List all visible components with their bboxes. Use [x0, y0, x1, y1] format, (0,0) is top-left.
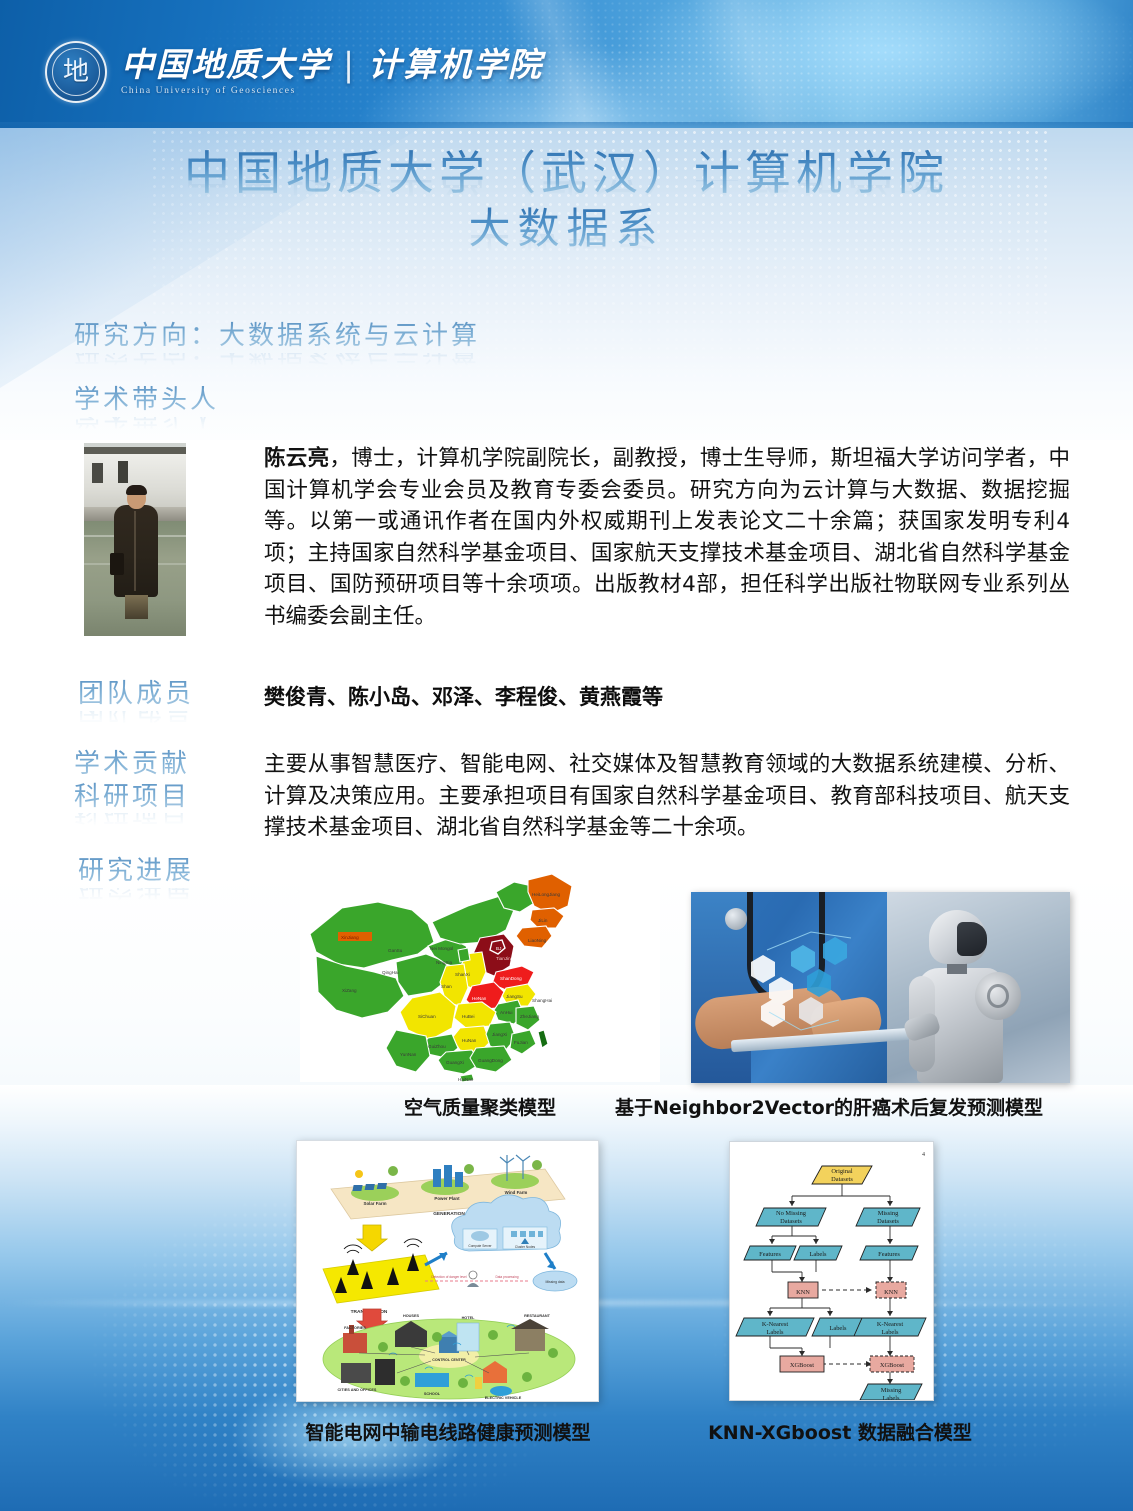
svg-text:SiChuan: SiChuan [418, 1014, 436, 1019]
heading-academic-contribution: 学术贡献 科研项目 科研项目 [74, 748, 190, 827]
svg-text:XGBoost: XGBoost [790, 1362, 814, 1369]
robot-face [957, 922, 987, 956]
svg-text:Labels: Labels [809, 1251, 827, 1258]
svg-text:ShanDong: ShanDong [500, 976, 522, 981]
heading-academic-leader: 学术带头人 学术带头人 [74, 384, 219, 431]
logo-department-name: 计算机学院 [368, 48, 543, 83]
svg-text:Missing: Missing [878, 1210, 899, 1217]
svg-text:HaiNan: HaiNan [458, 1077, 474, 1082]
svg-text:JiLin: JiLin [538, 918, 548, 923]
heading-academic-contribution-line1: 学术贡献 [74, 748, 190, 781]
danger-detection-label: Detection of danger level [431, 1275, 467, 1279]
svg-text:Features: Features [759, 1251, 781, 1258]
heading-academic-leader-label: 学术带头人 [74, 384, 219, 417]
cities-offices-icon [341, 1363, 371, 1383]
svg-text:LiaoNing: LiaoNing [528, 938, 547, 943]
heading-research-progress-reflection: 研究进展 [78, 888, 194, 902]
heading-academic-contribution-reflection: 科研项目 [74, 813, 190, 827]
svg-text:Labels: Labels [882, 1395, 900, 1401]
logo-wordmark: 中国地质大学 | 计算机学院 [121, 48, 543, 83]
page-title-line1-reflection: 中国地质大学（武汉）计算机学院 [0, 180, 1133, 200]
china-map-svg: XinJiang XiZang QingHai GanSu Nei Mongol… [300, 872, 660, 1082]
svg-text:Power Plant: Power Plant [434, 1196, 460, 1201]
heading-academic-leader-reflection: 学术带头人 [74, 417, 219, 431]
smart-grid-model-figure: Solar Farm Power Plant Wind Farm GENERAT… [296, 1140, 599, 1402]
svg-text:TianJin: TianJin [496, 956, 511, 961]
heading-research-direction: 研究方向：大数据系统与云计算 研究方向：大数据系统与云计算 [74, 320, 480, 367]
portrait-hair [126, 485, 147, 495]
portrait-legs [125, 595, 148, 619]
team-members-text: 樊俊青、陈小岛、邓泽、李程俊、黄燕霞等 [264, 682, 1070, 712]
portrait-person [114, 487, 158, 619]
svg-text:Solar Farm: Solar Farm [364, 1201, 387, 1206]
heading-research-direction-label: 研究方向：大数据系统与云计算 [74, 320, 480, 353]
svg-text:ZheJiang: ZheJiang [520, 1014, 539, 1019]
svg-text:No Missing: No Missing [776, 1210, 807, 1217]
svg-text:Original: Original [831, 1168, 853, 1175]
svg-text:HeNan: HeNan [472, 996, 487, 1001]
university-seal-icon: 地 [45, 41, 107, 103]
svg-text:Labels: Labels [881, 1329, 899, 1336]
svg-text:XinJiang: XinJiang [341, 935, 359, 940]
medical-hud-hexagons [691, 892, 887, 1083]
svg-text:HuBei: HuBei [462, 1014, 475, 1019]
svg-text:Datasets: Datasets [780, 1218, 802, 1225]
heading-research-progress-label: 研究进展 [78, 855, 194, 888]
svg-text:QingHai: QingHai [382, 970, 399, 975]
knn-xgboost-flowchart-svg: 4 [730, 1142, 934, 1401]
svg-text:CITIES AND OFFICES: CITIES AND OFFICES [338, 1388, 377, 1392]
university-logo: 地 中国地质大学 | 计算机学院 China University of Geo… [45, 38, 543, 106]
portrait-bag [110, 553, 124, 575]
logo-english-name: China University of Geosciences [121, 86, 543, 96]
svg-text:Datasets: Datasets [831, 1176, 853, 1183]
svg-text:KNN: KNN [796, 1289, 810, 1296]
svg-text:K-Nearest: K-Nearest [762, 1321, 788, 1328]
svg-text:JiangSu: JiangSu [506, 994, 523, 999]
academic-contribution-text: 主要从事智慧医疗、智能电网、社交媒体及智慧教育领域的大数据系统建模、分析、计算及… [264, 749, 1070, 844]
svg-text:Datasets: Datasets [877, 1218, 899, 1225]
missing-data-label: Missing data [545, 1280, 564, 1284]
robot-arm [909, 976, 935, 1072]
map-region-ningxia [458, 948, 470, 962]
factory-icon [343, 1333, 367, 1353]
page-title: 中国地质大学（武汉）计算机学院 中国地质大学（武汉）计算机学院 大数据系 大数据… [0, 146, 1133, 254]
compute-server-icon [471, 1231, 489, 1241]
academic-leader-bio-text: ，博士，计算机学院副院长，副教授，博士生导师，斯坦福大学访问学者，中国计算机学会… [264, 446, 1070, 629]
svg-text:ELECTRIC VEHICLE: ELECTRIC VEHICLE [485, 1396, 522, 1400]
svg-text:SCHOOL: SCHOOL [424, 1392, 441, 1396]
hotel-icon [457, 1323, 479, 1351]
svg-text:FuJian: FuJian [514, 1040, 528, 1045]
svg-text:GanSu: GanSu [388, 948, 403, 953]
svg-text:HuNan: HuNan [462, 1038, 477, 1043]
svg-text:HOUSES: HOUSES [403, 1314, 420, 1318]
liver-cancer-model-caption: 基于Neighbor2Vector的肝癌术后复发预测模型 [585, 1093, 1073, 1120]
svg-text:RESTAURANT: RESTAURANT [524, 1314, 551, 1318]
heading-team-members-reflection: 团队成员 [78, 711, 194, 725]
smart-grid-model-caption: 智能电网中输电线路健康预测模型 [246, 1418, 650, 1445]
academic-leader-name: 陈云亮 [264, 446, 329, 471]
heading-research-progress: 研究进展 研究进展 [78, 855, 194, 902]
svg-text:HOTEL: HOTEL [462, 1316, 476, 1320]
control-center-label: CONTROL CENTER [432, 1358, 466, 1362]
svg-text:K-Nearest: K-Nearest [877, 1321, 903, 1328]
svg-text:Features: Features [878, 1251, 900, 1258]
electric-vehicle-icon [490, 1386, 512, 1396]
svg-text:YunNan: YunNan [400, 1052, 417, 1057]
svg-text:HeiLongJiang: HeiLongJiang [532, 892, 561, 897]
svg-text:KNN: KNN [884, 1289, 898, 1296]
flowchart-page-number: 4 [922, 1152, 925, 1158]
logo-text-block: 中国地质大学 | 计算机学院 China University of Geosc… [121, 48, 543, 96]
air-quality-map-figure: XinJiang XiZang QingHai GanSu Nei Mongol… [300, 872, 660, 1082]
school-icon [415, 1373, 449, 1387]
svg-text:ShanXi: ShanXi [455, 972, 470, 977]
charging-station-icon [475, 1377, 482, 1389]
page-title-line2-reflection: 大数据系 [0, 234, 1133, 254]
svg-text:Labels: Labels [766, 1329, 784, 1336]
wind-farm-ground [491, 1173, 539, 1189]
compute-server-label: Compute Server [468, 1244, 492, 1248]
svg-text:FACTORIES: FACTORIES [344, 1326, 366, 1330]
seal-glyph: 地 [47, 43, 105, 101]
wind-farm-tree [532, 1160, 542, 1170]
svg-text:NingXia: NingXia [436, 960, 453, 965]
portrait-roof [84, 447, 186, 454]
logo-university-name: 中国地质大学 [121, 48, 331, 83]
portrait-coat [114, 505, 158, 597]
logo-divider: | [341, 48, 358, 83]
cluster-nodes-label: Cluster Nodes [515, 1245, 536, 1249]
svg-text:GuangXi: GuangXi [446, 1060, 464, 1065]
svg-text:XGBoost: XGBoost [880, 1362, 904, 1369]
robot-figure [903, 910, 1023, 1083]
heading-team-members-label: 团队成员 [78, 678, 194, 711]
knn-xgboost-model-caption: KNN-XGboost 数据融合模型 [690, 1418, 990, 1445]
svg-text:JiangXi: JiangXi [492, 1032, 507, 1037]
smart-grid-svg: Solar Farm Power Plant Wind Farm GENERAT… [297, 1141, 599, 1402]
svg-text:Nei Mongol: Nei Mongol [430, 946, 453, 951]
heading-academic-contribution-line2: 科研项目 [74, 781, 190, 814]
svg-text:Missing: Missing [881, 1387, 902, 1394]
svg-text:Labels: Labels [829, 1325, 847, 1332]
robot-shoulder-joint [975, 972, 1021, 1020]
knn-xgboost-model-figure: 4 [729, 1141, 934, 1401]
svg-text:XiZang: XiZang [342, 988, 357, 993]
academic-leader-portrait [84, 443, 186, 636]
svg-text:Shan: Shan [441, 984, 452, 989]
svg-text:AnHui: AnHui [500, 1010, 513, 1015]
svg-text:Wind Farm: Wind Farm [505, 1190, 528, 1195]
restaurant-icon [515, 1329, 545, 1351]
liver-cancer-model-figure [691, 892, 1070, 1083]
academic-leader-bio: 陈云亮，博士，计算机学院副院长，副教授，博士生导师，斯坦福大学访问学者，中国计算… [264, 443, 1070, 632]
svg-text:GuiZhou: GuiZhou [428, 1044, 446, 1049]
svg-text:ShangHai: ShangHai [532, 998, 552, 1003]
data-processing-label: Data processing [495, 1275, 518, 1279]
heading-team-members: 团队成员 团队成员 [78, 678, 194, 725]
svg-text:GuangDong: GuangDong [478, 1058, 503, 1063]
heading-research-direction-reflection: 研究方向：大数据系统与云计算 [74, 353, 480, 367]
svg-text:BJ: BJ [496, 946, 501, 951]
